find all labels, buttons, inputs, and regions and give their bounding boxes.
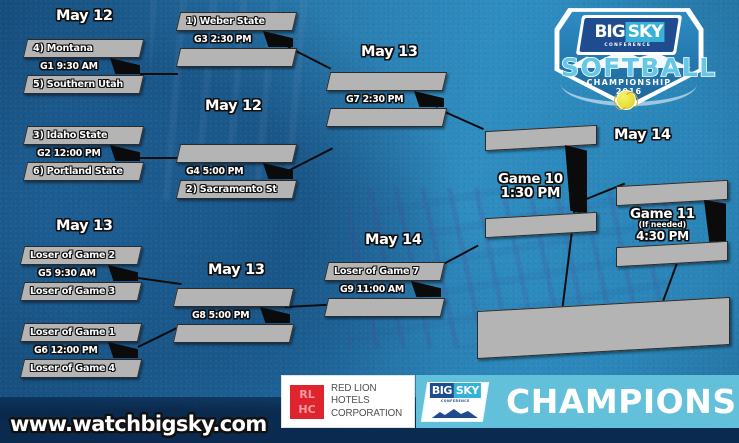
champions-logo-conference: CONFERENCE bbox=[430, 398, 481, 402]
date-round2-bottom: May 13 bbox=[208, 262, 265, 278]
connector-g2-to-g4 bbox=[140, 157, 178, 159]
slot-g9-bottom[interactable] bbox=[324, 298, 445, 317]
bracket-graphic: May 12 4) Montana G1 9:30 AM 5) Southern… bbox=[0, 0, 739, 443]
slot-g8-top[interactable] bbox=[173, 288, 294, 307]
logo-sky-text: SKY bbox=[626, 22, 665, 42]
connector-g1-to-g3 bbox=[140, 73, 178, 75]
game-label-g11: Game 11 (If needed) 4:30 PM bbox=[630, 207, 695, 243]
slot-g3-top[interactable]: 1) Weber State bbox=[176, 12, 297, 31]
rlhc-line2: HOTELS bbox=[331, 395, 402, 407]
date-losers-final: May 14 bbox=[365, 232, 422, 248]
slot-g2-top-label: 3) Idaho State bbox=[26, 130, 107, 141]
date-round2-top: May 12 bbox=[205, 98, 262, 114]
game-label-g10-time: 1:30 PM bbox=[501, 185, 561, 201]
game-label-g10: Game 10 1:30 PM bbox=[498, 172, 563, 200]
rlhc-wordmark: RED LION HOTELS CORPORATION bbox=[331, 383, 402, 420]
slot-g9-top[interactable]: Loser of Game 7 bbox=[324, 262, 445, 281]
slot-g6-bottom-label: Loser of Game 4 bbox=[23, 363, 115, 374]
game-label-g11-time: 4:30 PM bbox=[636, 229, 689, 243]
rlhc-logo-mark: RL HC bbox=[290, 385, 324, 419]
game-label-g6: G6 12:00 PM bbox=[34, 345, 98, 356]
website-url[interactable]: www.watchbigsky.com bbox=[10, 412, 267, 436]
date-round1-top: May 12 bbox=[56, 8, 113, 24]
game-label-g8: G8 5:00 PM bbox=[192, 310, 249, 321]
game-label-g4: G4 5:00 PM bbox=[186, 166, 243, 177]
sponsor-red-lion-hotels: RL HC RED LION HOTELS CORPORATION bbox=[281, 375, 415, 428]
slot-g2-top[interactable]: 3) Idaho State bbox=[23, 126, 144, 145]
logo-conference-text: CONFERENCE bbox=[604, 43, 651, 48]
champions-bigsky-logo: BIG SKY CONFERENCE bbox=[421, 382, 489, 422]
game-label-g11-note: (If needed) bbox=[630, 221, 695, 229]
game-label-g1: G1 9:30 AM bbox=[40, 61, 98, 72]
slot-g4-top[interactable] bbox=[176, 144, 297, 163]
slot-g7-bottom[interactable] bbox=[326, 108, 447, 127]
slot-g5-bottom[interactable]: Loser of Game 3 bbox=[20, 282, 142, 301]
game-label-g3: G3 2:30 PM bbox=[194, 34, 251, 45]
slot-g5-top-label: Loser of Game 2 bbox=[23, 250, 115, 261]
slot-g1-bottom[interactable]: 5) Southern Utah bbox=[23, 75, 144, 94]
champions-logo-sky: SKY bbox=[454, 382, 481, 397]
champions-title: CHAMPIONS bbox=[506, 382, 737, 421]
game-label-g9: G9 11:00 AM bbox=[340, 284, 404, 295]
rlhc-mark-line2: HC bbox=[298, 402, 315, 417]
slot-g1-top-label: 4) Montana bbox=[26, 43, 93, 54]
logo-championship-text: CHAMPIONSHIP bbox=[561, 78, 697, 87]
slot-g9-top-label: Loser of Game 7 bbox=[327, 266, 419, 277]
slot-g6-bottom[interactable]: Loser of Game 4 bbox=[20, 359, 142, 378]
champions-logo-big: BIG bbox=[430, 382, 454, 397]
slot-g1-top[interactable]: 4) Montana bbox=[23, 39, 144, 58]
date-semifinal: May 13 bbox=[361, 44, 418, 60]
game-label-g2: G2 12:00 PM bbox=[37, 148, 101, 159]
slot-g5-top[interactable]: Loser of Game 2 bbox=[20, 246, 142, 265]
slot-g4-bottom-label: 2) Sacramento St bbox=[179, 184, 277, 195]
rlhc-mark-line1: RL bbox=[299, 387, 314, 402]
logo-big-text: BIG bbox=[594, 22, 624, 42]
rlhc-line3: CORPORATION bbox=[331, 408, 402, 420]
slot-g7-top[interactable] bbox=[326, 72, 447, 91]
date-final: May 14 bbox=[614, 127, 671, 143]
slot-g1-bottom-label: 5) Southern Utah bbox=[26, 79, 123, 90]
slot-g3-bottom[interactable] bbox=[176, 48, 297, 67]
slot-g6-top-label: Loser of Game 1 bbox=[23, 327, 115, 338]
game-label-g5: G5 9:30 AM bbox=[38, 268, 96, 279]
slot-g2-bottom[interactable]: 6) Portland State bbox=[23, 162, 144, 181]
slot-g8-bottom[interactable] bbox=[173, 324, 294, 343]
game-label-g7: G7 2:30 PM bbox=[346, 94, 403, 105]
slot-g4-bottom[interactable]: 2) Sacramento St bbox=[176, 180, 297, 199]
slot-g3-top-label: 1) Weber State bbox=[179, 16, 265, 27]
slot-g2-bottom-label: 6) Portland State bbox=[26, 166, 123, 177]
rlhc-line1: RED LION bbox=[331, 383, 402, 395]
champions-banner: BIG SKY CONFERENCE CHAMPIONS bbox=[416, 375, 739, 428]
date-round1-bottom: May 13 bbox=[56, 218, 113, 234]
slot-g6-top[interactable]: Loser of Game 1 bbox=[20, 323, 142, 342]
champions-logo-mountain-icon bbox=[432, 407, 478, 417]
logo-bigsky-badge: BIG SKY CONFERENCE bbox=[576, 15, 682, 55]
softball-icon bbox=[616, 90, 636, 110]
big-sky-softball-logo: BIG SKY CONFERENCE SOFTBALL CHAMPIONSHIP… bbox=[553, 6, 705, 110]
slot-g5-bottom-label: Loser of Game 3 bbox=[23, 286, 115, 297]
